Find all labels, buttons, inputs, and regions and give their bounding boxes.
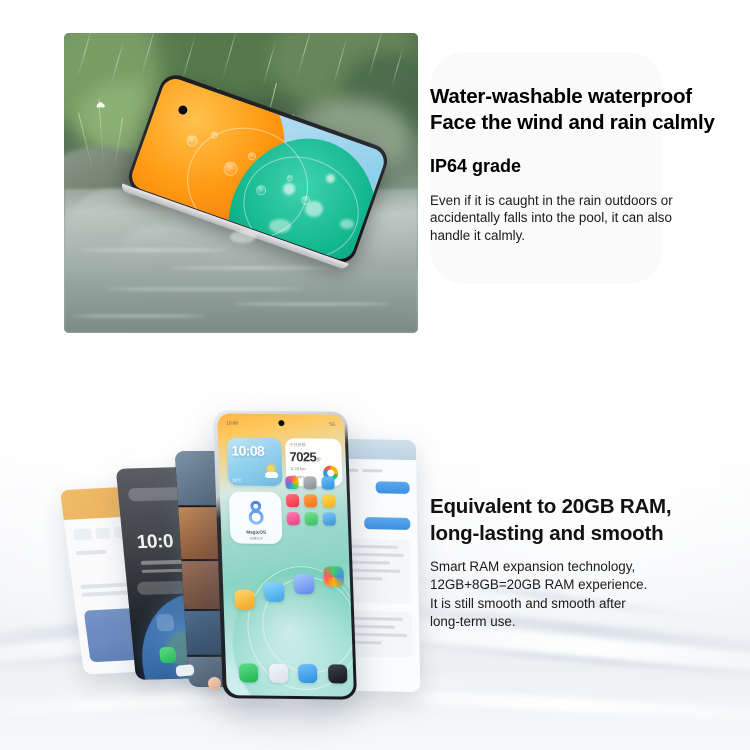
app-grid-middle	[231, 563, 347, 564]
app-dock	[234, 661, 353, 686]
water-splash	[326, 174, 335, 183]
app-icon-browser[interactable]	[323, 566, 344, 586]
water-splash	[305, 201, 323, 217]
main-phone-screen: 10:08 5G 10:08 15°C 今日步数 7025步 0.28 km	[217, 413, 354, 696]
clock-weather-widget[interactable]: 10:08 15°C	[227, 438, 283, 487]
app-grid-top	[286, 492, 346, 493]
water-ripple	[106, 288, 304, 290]
app-icon-settings[interactable]	[303, 476, 316, 489]
clock-widget-time: 10:08	[231, 443, 264, 459]
app-icon-gallery[interactable]	[285, 476, 298, 489]
steps-value-number: 7025	[289, 449, 316, 464]
waterproof-heading-line-1: Water-washable waterproof	[430, 84, 746, 110]
waterproof-body-line-3: handle it calmly.	[430, 227, 746, 244]
app-icon-store[interactable]	[321, 476, 334, 489]
app-icon-files[interactable]	[305, 512, 318, 525]
status-bar-indicators: 5G	[329, 422, 335, 427]
chat-bubble-outgoing	[376, 481, 410, 494]
app-icon-wallet[interactable]	[234, 589, 255, 609]
section-waterproof: Water-washable waterproof Face the wind …	[0, 0, 750, 375]
water-ripple	[234, 303, 390, 305]
magicos-widget[interactable]: MagicOS 智慧助手	[229, 491, 283, 544]
waterproof-body-line-1: Even if it is caught in the rain outdoor…	[430, 192, 746, 209]
water-ripple	[170, 267, 333, 269]
waterproof-heading-line-2: Face the wind and rain calmly	[430, 110, 746, 136]
lock-screen-time: 10:0	[136, 531, 174, 554]
waterproof-body: Even if it is caught in the rain outdoor…	[430, 192, 746, 244]
dock-phone-icon[interactable]	[239, 663, 259, 682]
ram-body-line-2: 12GB+8GB=20GB RAM experience.	[430, 576, 746, 594]
dock-phone-icon[interactable]	[159, 647, 177, 663]
chat-meta-row	[362, 469, 382, 472]
waterproof-subheading: IP64 grade	[430, 154, 746, 178]
phone-stack: 10:0	[0, 375, 430, 750]
app-icon-notes[interactable]	[322, 494, 335, 507]
doc-chip	[95, 528, 110, 540]
app-icon-cloud[interactable]	[323, 512, 336, 525]
status-bar-time: 10:08	[226, 421, 238, 426]
floating-chip	[208, 677, 221, 690]
waterproof-body-line-2: accidentally falls into the pool, it can…	[430, 209, 746, 226]
steps-widget-title: 今日步数	[289, 442, 306, 448]
ram-body-line-4: long-term use.	[430, 613, 746, 631]
ram-body-line-3: It is still smooth and smooth after	[430, 595, 746, 613]
ram-body-line-1: Smart RAM expansion technology,	[430, 558, 746, 576]
chat-bubble-outgoing	[364, 517, 410, 530]
waterproof-text-block: Water-washable waterproof Face the wind …	[430, 84, 746, 244]
steps-detail-1: 0.28 km	[291, 466, 306, 471]
ram-heading-line-2: long-lasting and smooth	[430, 520, 746, 547]
app-icon-music[interactable]	[287, 512, 300, 525]
water-ripple	[71, 315, 206, 317]
app-icon-docs[interactable]	[304, 494, 317, 507]
front-camera-punch-hole	[278, 420, 284, 426]
ram-body: Smart RAM expansion technology, 12GB+8GB…	[430, 558, 746, 632]
water-ripple	[85, 249, 227, 251]
app-icon-video[interactable]	[286, 494, 299, 507]
app-icon-notes-large[interactable]	[264, 582, 285, 602]
waterproof-hero-image	[64, 33, 418, 333]
dock-camera-icon[interactable]	[328, 664, 348, 683]
clock-widget-subtitle: 15°C	[232, 477, 242, 482]
magicos-logo-icon	[246, 501, 266, 525]
doc-chip	[73, 529, 92, 541]
magicos-sublabel: 智慧助手	[230, 535, 282, 541]
dock-message-icon[interactable]	[269, 664, 289, 683]
partly-sunny-icon	[265, 465, 278, 478]
ram-text-block: Equivalent to 20GB RAM, long-lasting and…	[430, 493, 746, 632]
dock-browser-icon[interactable]	[298, 664, 318, 683]
doc-text-row	[76, 550, 107, 556]
lock-shortcut-button[interactable]	[156, 614, 175, 631]
steps-widget-value: 7025步	[289, 449, 320, 464]
steps-value-unit: 步	[316, 457, 321, 463]
lock-date-row	[142, 569, 186, 574]
ram-heading-line-1: Equivalent to 20GB RAM,	[430, 493, 746, 520]
app-icon-weather[interactable]	[294, 574, 315, 594]
main-phone: 10:08 5G 10:08 15°C 今日步数 7025步 0.28 km	[213, 410, 357, 699]
floating-chip	[175, 664, 194, 677]
section-ram: 10:0	[0, 375, 750, 750]
floating-seed-icon	[96, 102, 105, 111]
